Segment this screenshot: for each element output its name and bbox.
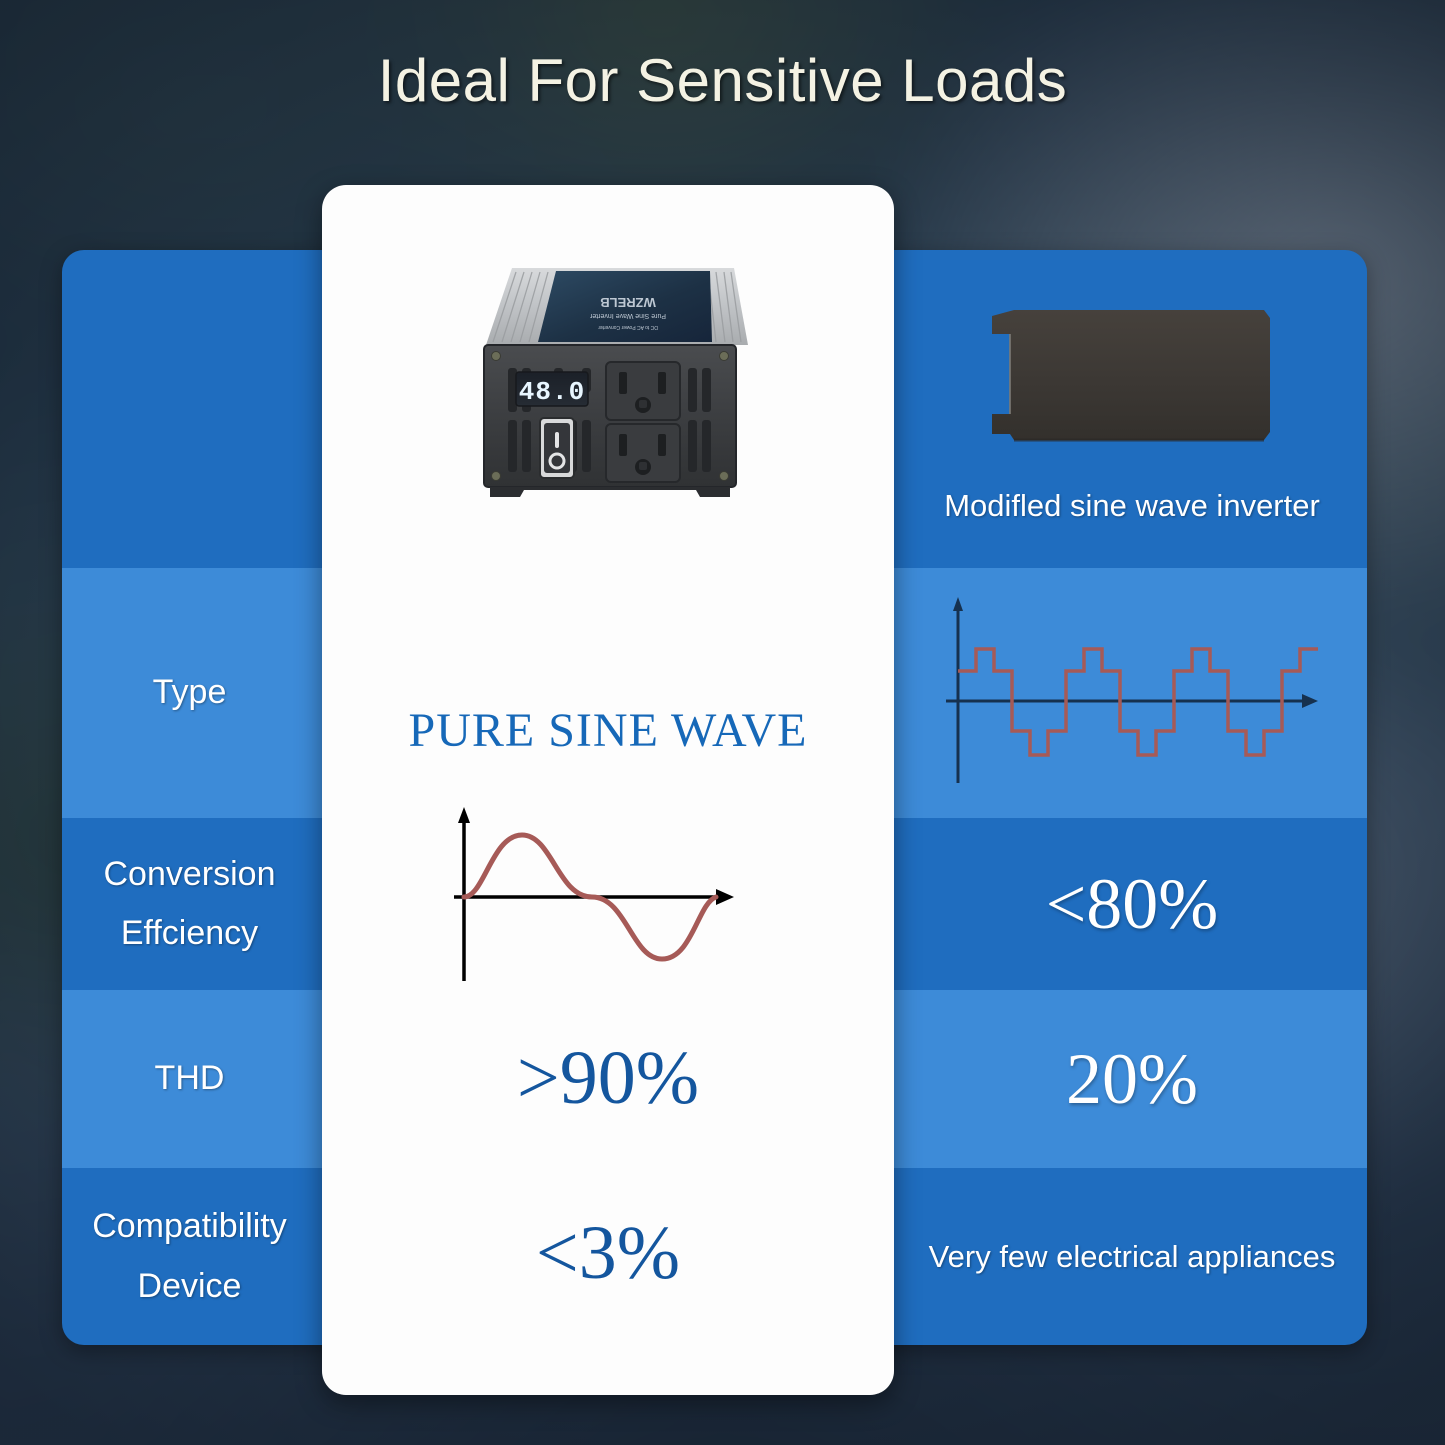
row-label-compatibility-line2: Device xyxy=(138,1257,242,1317)
voltage-display-value: 48.0 xyxy=(519,377,585,407)
pure-sine-wave-card: WZRELB Pure Sine Wave Inverter DC to AC … xyxy=(322,185,894,1395)
modified-sine-waveform-chart xyxy=(932,593,1332,793)
thd-right-value: 20% xyxy=(1066,1043,1198,1115)
pure-sine-waveform-chart xyxy=(440,803,760,993)
switch-on-marker xyxy=(555,432,559,448)
page-title: Ideal For Sensitive Loads xyxy=(0,46,1445,115)
efficiency-right-value: <80% xyxy=(1046,868,1219,940)
infographic-stage: Ideal For Sensitive Loads xyxy=(0,0,1445,1445)
brand-sub2: DC to AC Power Converter xyxy=(598,324,658,330)
card-product-title: PURE SINE WAVE xyxy=(322,703,894,758)
compatibility-right-value: Very few electrical appliances xyxy=(923,1239,1342,1275)
row-label-thd: THD xyxy=(62,990,317,1168)
row-label-compatibility: Compatibility Device xyxy=(62,1168,317,1345)
header-right-cell: Modifled sine wave inverter xyxy=(897,250,1367,568)
pure-sine-inverter-image: WZRELB Pure Sine Wave Inverter DC to AC … xyxy=(460,250,760,505)
row-label-type-text: Type xyxy=(153,663,227,723)
ac-outlet-top xyxy=(606,362,680,420)
modified-inverter-image xyxy=(962,282,1302,472)
row-label-efficiency-line2: Effciency xyxy=(121,904,258,964)
row-label-thd-text: THD xyxy=(155,1049,225,1109)
type-right-cell xyxy=(897,568,1367,818)
brand-sub: Pure Sine Wave Inverter xyxy=(589,312,666,319)
card-efficiency-value: >90% xyxy=(322,1040,894,1116)
row-label-type: Type xyxy=(62,568,317,818)
card-thd-value: <3% xyxy=(322,1215,894,1291)
thd-right-cell: 20% xyxy=(897,990,1367,1168)
brand-wordmark: WZRELB xyxy=(600,295,656,310)
modified-inverter-title: Modifled sine wave inverter xyxy=(938,488,1326,524)
row-label-efficiency-line1: Conversion xyxy=(104,845,276,905)
efficiency-right-cell: <80% xyxy=(897,818,1367,990)
header-label-cell xyxy=(62,250,317,568)
row-label-efficiency: Conversion Effciency xyxy=(62,818,317,990)
row-label-compatibility-line1: Compatibility xyxy=(92,1197,287,1257)
compatibility-right-cell: Very few electrical appliances xyxy=(897,1168,1367,1345)
ac-outlet-bottom xyxy=(606,424,680,482)
